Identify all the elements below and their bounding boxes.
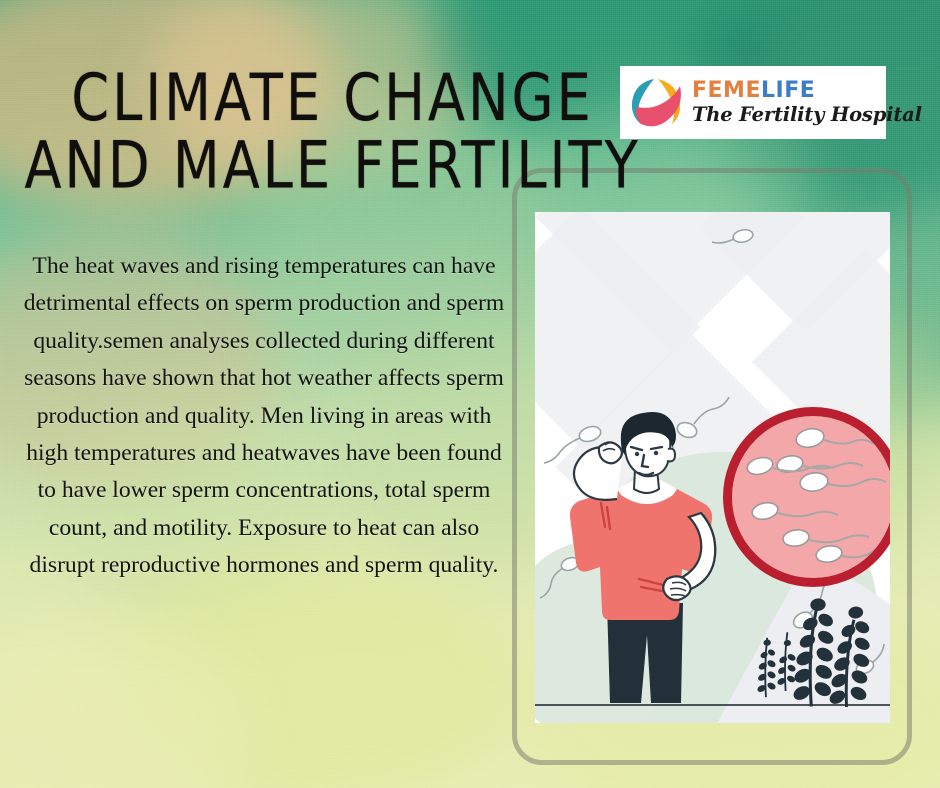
logo-wordmark: FEMELIFE — [692, 80, 922, 102]
logo-text-block: FEMELIFE The Fertility Hospital — [692, 80, 922, 125]
logo-name-part1: FEME — [692, 78, 761, 103]
logo-tagline: The Fertility Hospital — [692, 105, 922, 125]
title-line-2: AND MALE FERTILITY — [10, 135, 655, 197]
page-title: CLIMATE CHANGE AND MALE FERTILITY — [10, 68, 655, 197]
poster-canvas: CLIMATE CHANGE AND MALE FERTILITY The he… — [0, 0, 940, 788]
brand-logo[interactable]: FEMELIFE The Fertility Hospital — [620, 66, 886, 139]
sperm-magnifier-circle — [723, 407, 890, 587]
title-line-1: CLIMATE CHANGE — [71, 61, 594, 136]
logo-name-part2: LIFE — [761, 78, 815, 103]
magnified-sperm-cells — [732, 416, 890, 578]
plant-silhouettes — [750, 597, 880, 707]
three-petal-circle-logo-icon — [628, 75, 684, 131]
man-illustration — [555, 407, 735, 707]
body-paragraph: The heat waves and rising temperatures c… — [20, 248, 508, 585]
illustration-card — [535, 212, 890, 723]
